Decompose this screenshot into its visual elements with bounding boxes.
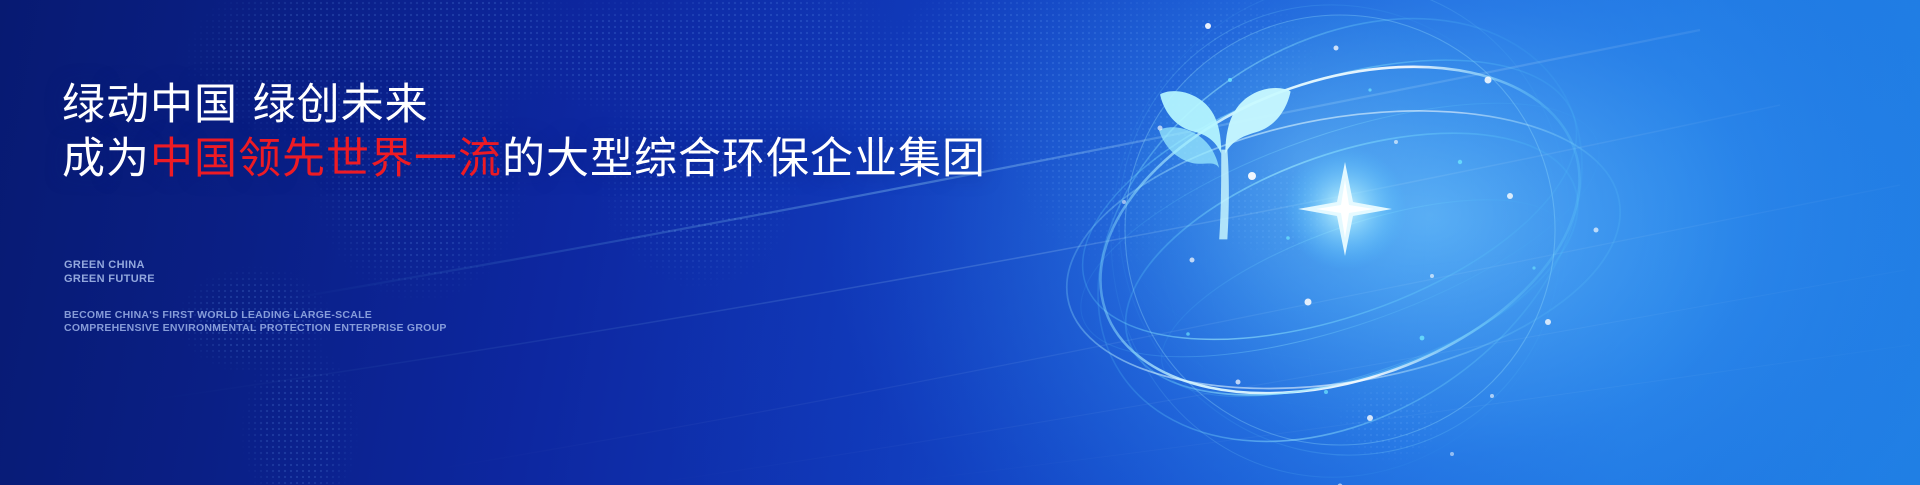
sprout-icon [1159, 88, 1291, 239]
star-flare-icon [1283, 146, 1407, 270]
subtitle-english-line-1: GREEN CHINA [64, 258, 155, 272]
headline-line-2-accent: 中国领先世界一流 [150, 134, 502, 184]
tagline-english-line-2: COMPREHENSIVE ENVIRONMENTAL PROTECTION E… [64, 322, 447, 335]
copy-block: 绿动中国 绿创未来 成为中国领先世界一流的大型综合环保企业集团 GREEN CH… [62, 0, 1042, 485]
headline-line-2: 成为中国领先世界一流的大型综合环保企业集团 [62, 132, 986, 186]
subtitle-english-line-2: GREEN FUTURE [64, 272, 155, 286]
tagline-english: BECOME CHINA'S FIRST WORLD LEADING LARGE… [64, 309, 447, 335]
hero-banner: 绿动中国 绿创未来 成为中国领先世界一流的大型综合环保企业集团 GREEN CH… [0, 0, 1920, 485]
headline-line-2-suffix: 的大型综合环保企业集团 [502, 134, 986, 184]
particles-cyan [1186, 78, 1535, 394]
tagline-english-line-1: BECOME CHINA'S FIRST WORLD LEADING LARGE… [64, 309, 447, 322]
page-title: 绿动中国 绿创未来 成为中国领先世界一流的大型综合环保企业集团 [62, 78, 986, 186]
subtitle-english: GREEN CHINA GREEN FUTURE [64, 258, 155, 286]
headline-line-1: 绿动中国 绿创未来 [62, 78, 986, 132]
globe-icon [1040, 0, 1660, 485]
particles [1122, 0, 1599, 485]
headline-line-2-prefix: 成为 [62, 134, 150, 184]
globe-graphic [1040, 0, 1660, 485]
